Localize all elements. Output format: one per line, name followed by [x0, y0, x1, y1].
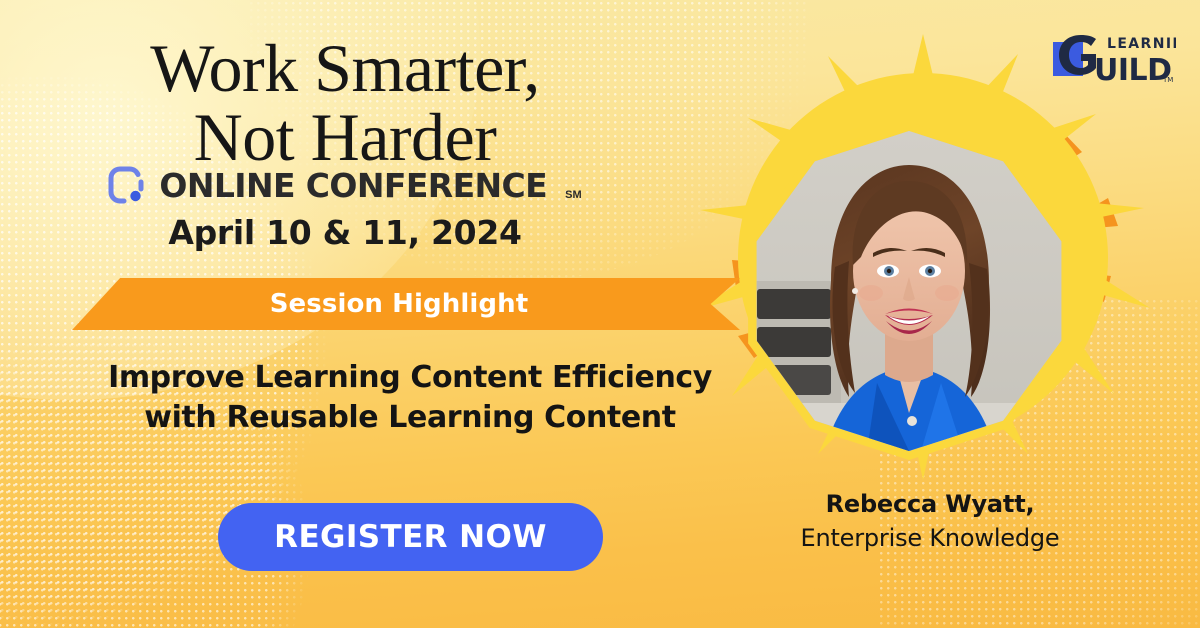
promo-banner: Work Smarter, Not Harder ONLINE CONFEREN…: [0, 0, 1200, 628]
session-title: Improve Learning Content Efficiency with…: [0, 358, 820, 438]
register-now-button[interactable]: REGISTER NOW: [218, 503, 603, 571]
online-conference-lockup: ONLINE CONFERENCE SM: [0, 166, 690, 204]
speaker-name: Rebecca Wyatt,: [760, 490, 1100, 518]
event-dates: April 10 & 11, 2024: [0, 213, 690, 252]
speaker-credit: Rebecca Wyatt, Enterprise Knowledge: [760, 490, 1100, 552]
session-title-line-1: Improve Learning Content Efficiency: [0, 358, 820, 398]
session-highlight-label: Session Highlight: [72, 278, 740, 330]
session-title-line-2: with Reusable Learning Content: [0, 398, 820, 438]
headline-line-2: Not Harder: [0, 103, 690, 172]
page-title: Work Smarter, Not Harder: [0, 34, 690, 173]
learning-guild-logo: LEARNING UILD TM: [1051, 30, 1176, 88]
headline-line-1: Work Smarter,: [150, 30, 539, 106]
online-conference-bracket-icon: [108, 166, 146, 204]
online-conference-name: ONLINE CONFERENCE: [159, 169, 547, 202]
guild-logo-trademark: TM: [1162, 76, 1173, 84]
guild-logo-bottom-word: UILD: [1094, 53, 1172, 88]
speaker-organization: Enterprise Knowledge: [760, 524, 1100, 552]
learning-guild-logo-svg: LEARNING UILD TM: [1051, 30, 1176, 88]
guild-logo-top-word: LEARNING: [1107, 36, 1176, 52]
service-mark: SM: [565, 189, 582, 204]
